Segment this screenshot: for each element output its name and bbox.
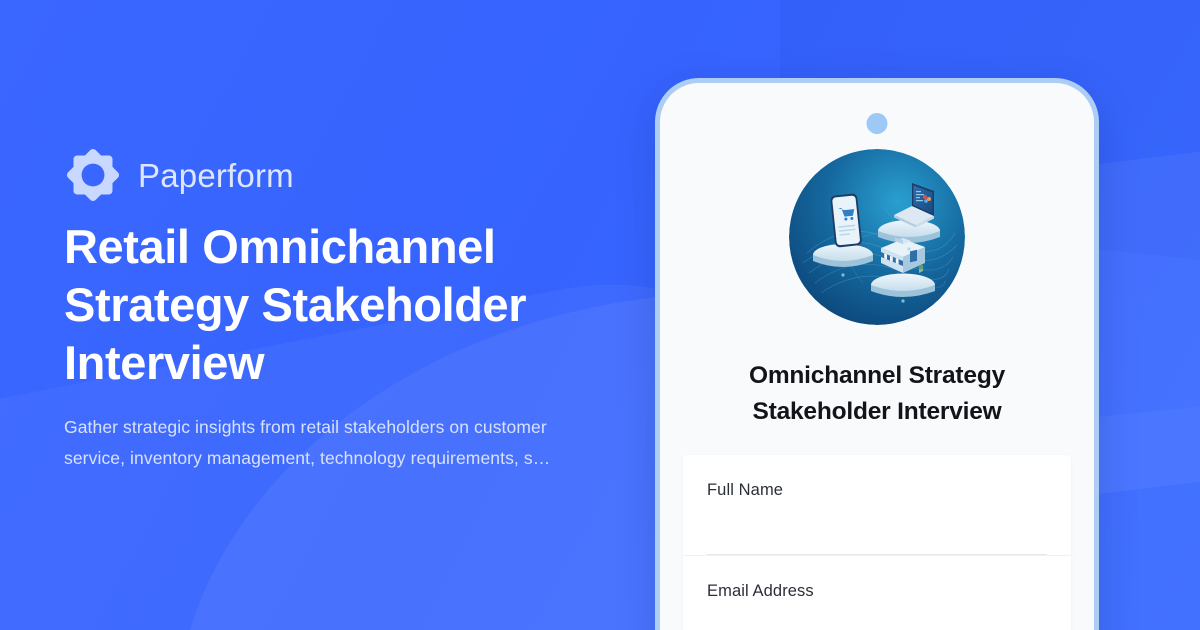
brand-lockup: Paperform [64, 146, 294, 204]
field-label-email-address: Email Address [707, 582, 1047, 602]
page-description: Gather strategic insights from retail st… [64, 412, 564, 474]
hero-content: Paperform Retail Omnichannel Strategy St… [64, 0, 624, 630]
paperform-logo-icon [64, 146, 122, 204]
camera-dot-icon [867, 113, 888, 134]
form-field-email-address[interactable]: Email Address [683, 555, 1071, 630]
email-address-input[interactable] [707, 614, 1047, 630]
field-label-full-name: Full Name [707, 481, 1047, 501]
form-field-full-name[interactable]: Full Name [683, 455, 1071, 555]
form-title: Omnichannel Strategy Stakeholder Intervi… [690, 358, 1064, 429]
brand-wordmark: Paperform [138, 159, 294, 192]
page-title: Retail Omnichannel Strategy Stakeholder … [64, 218, 604, 391]
form-field-list: Full Name Email Address [683, 455, 1071, 630]
phone-mockup: Omnichannel Strategy Stakeholder Intervi… [655, 78, 1099, 630]
full-name-input[interactable] [707, 513, 1047, 555]
omnichannel-retail-illustration [789, 149, 965, 325]
